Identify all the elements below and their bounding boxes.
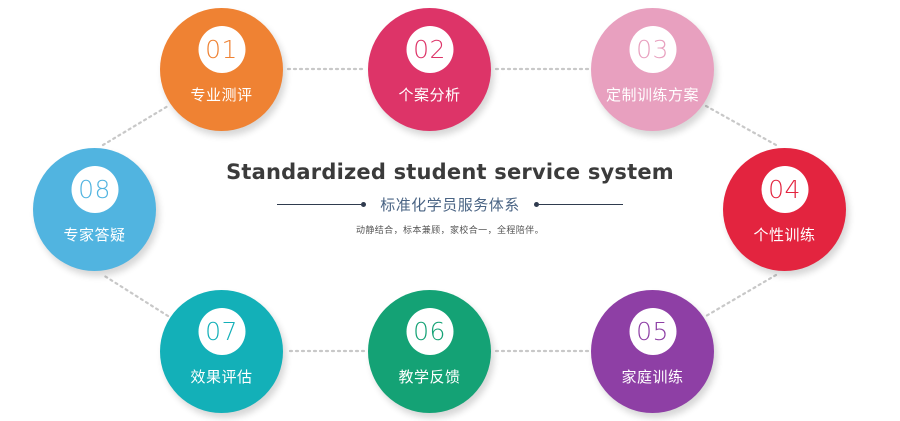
step-number-06: 06 — [413, 319, 446, 344]
step-node-06[interactable]: 06教学反馈 — [368, 290, 491, 413]
step-node-05[interactable]: 05家庭训练 — [591, 290, 714, 413]
step-node-07[interactable]: 07效果评估 — [160, 290, 283, 413]
subtitle-chinese: 标准化学员服务体系 — [366, 194, 534, 215]
step-label-05: 家庭训练 — [591, 366, 714, 387]
page-title: Standardized student service system — [220, 160, 680, 185]
step-label-08: 专家答疑 — [33, 224, 156, 245]
step-number-07: 07 — [205, 319, 238, 344]
step-node-02[interactable]: 02个案分析 — [368, 8, 491, 131]
step-node-04[interactable]: 04个性训练 — [723, 148, 846, 271]
step-number-08: 08 — [78, 177, 111, 202]
service-system-infographic: 01专业测评02个案分析03定制训练方案04个性训练05家庭训练06教学反馈07… — [0, 0, 900, 421]
step-number-disc-01: 01 — [198, 26, 245, 73]
step-label-06: 教学反馈 — [368, 366, 491, 387]
step-number-05: 05 — [636, 319, 669, 344]
step-node-01[interactable]: 01专业测评 — [160, 8, 283, 131]
step-number-disc-05: 05 — [629, 308, 676, 355]
step-label-02: 个案分析 — [368, 84, 491, 105]
step-label-01: 专业测评 — [160, 84, 283, 105]
step-number-disc-03: 03 — [629, 26, 676, 73]
connector-dotted-07-08 — [103, 275, 168, 316]
connector-dotted-03-04 — [706, 106, 776, 145]
connector-dotted-08-01 — [103, 106, 168, 145]
step-node-08[interactable]: 08专家答疑 — [33, 148, 156, 271]
connector-dotted-04-05 — [706, 275, 776, 316]
step-node-03[interactable]: 03定制训练方案 — [591, 8, 714, 131]
step-number-03: 03 — [636, 37, 669, 62]
step-label-04: 个性训练 — [723, 224, 846, 245]
step-number-disc-07: 07 — [198, 308, 245, 355]
step-number-disc-04: 04 — [761, 166, 808, 213]
step-number-02: 02 — [413, 37, 446, 62]
subtitle-row: 标准化学员服务体系 — [220, 194, 680, 215]
center-text-block: Standardized student service system 标准化学… — [220, 160, 680, 236]
step-number-disc-08: 08 — [71, 166, 118, 213]
step-number-04: 04 — [768, 177, 801, 202]
rule-right — [539, 204, 623, 205]
step-label-03: 定制训练方案 — [591, 84, 714, 105]
rule-left — [277, 204, 361, 205]
step-number-01: 01 — [205, 37, 238, 62]
step-label-07: 效果评估 — [160, 366, 283, 387]
step-number-disc-02: 02 — [406, 26, 453, 73]
step-number-disc-06: 06 — [406, 308, 453, 355]
tagline: 动静结合，标本兼顾，家校合一，全程陪伴。 — [220, 223, 680, 236]
